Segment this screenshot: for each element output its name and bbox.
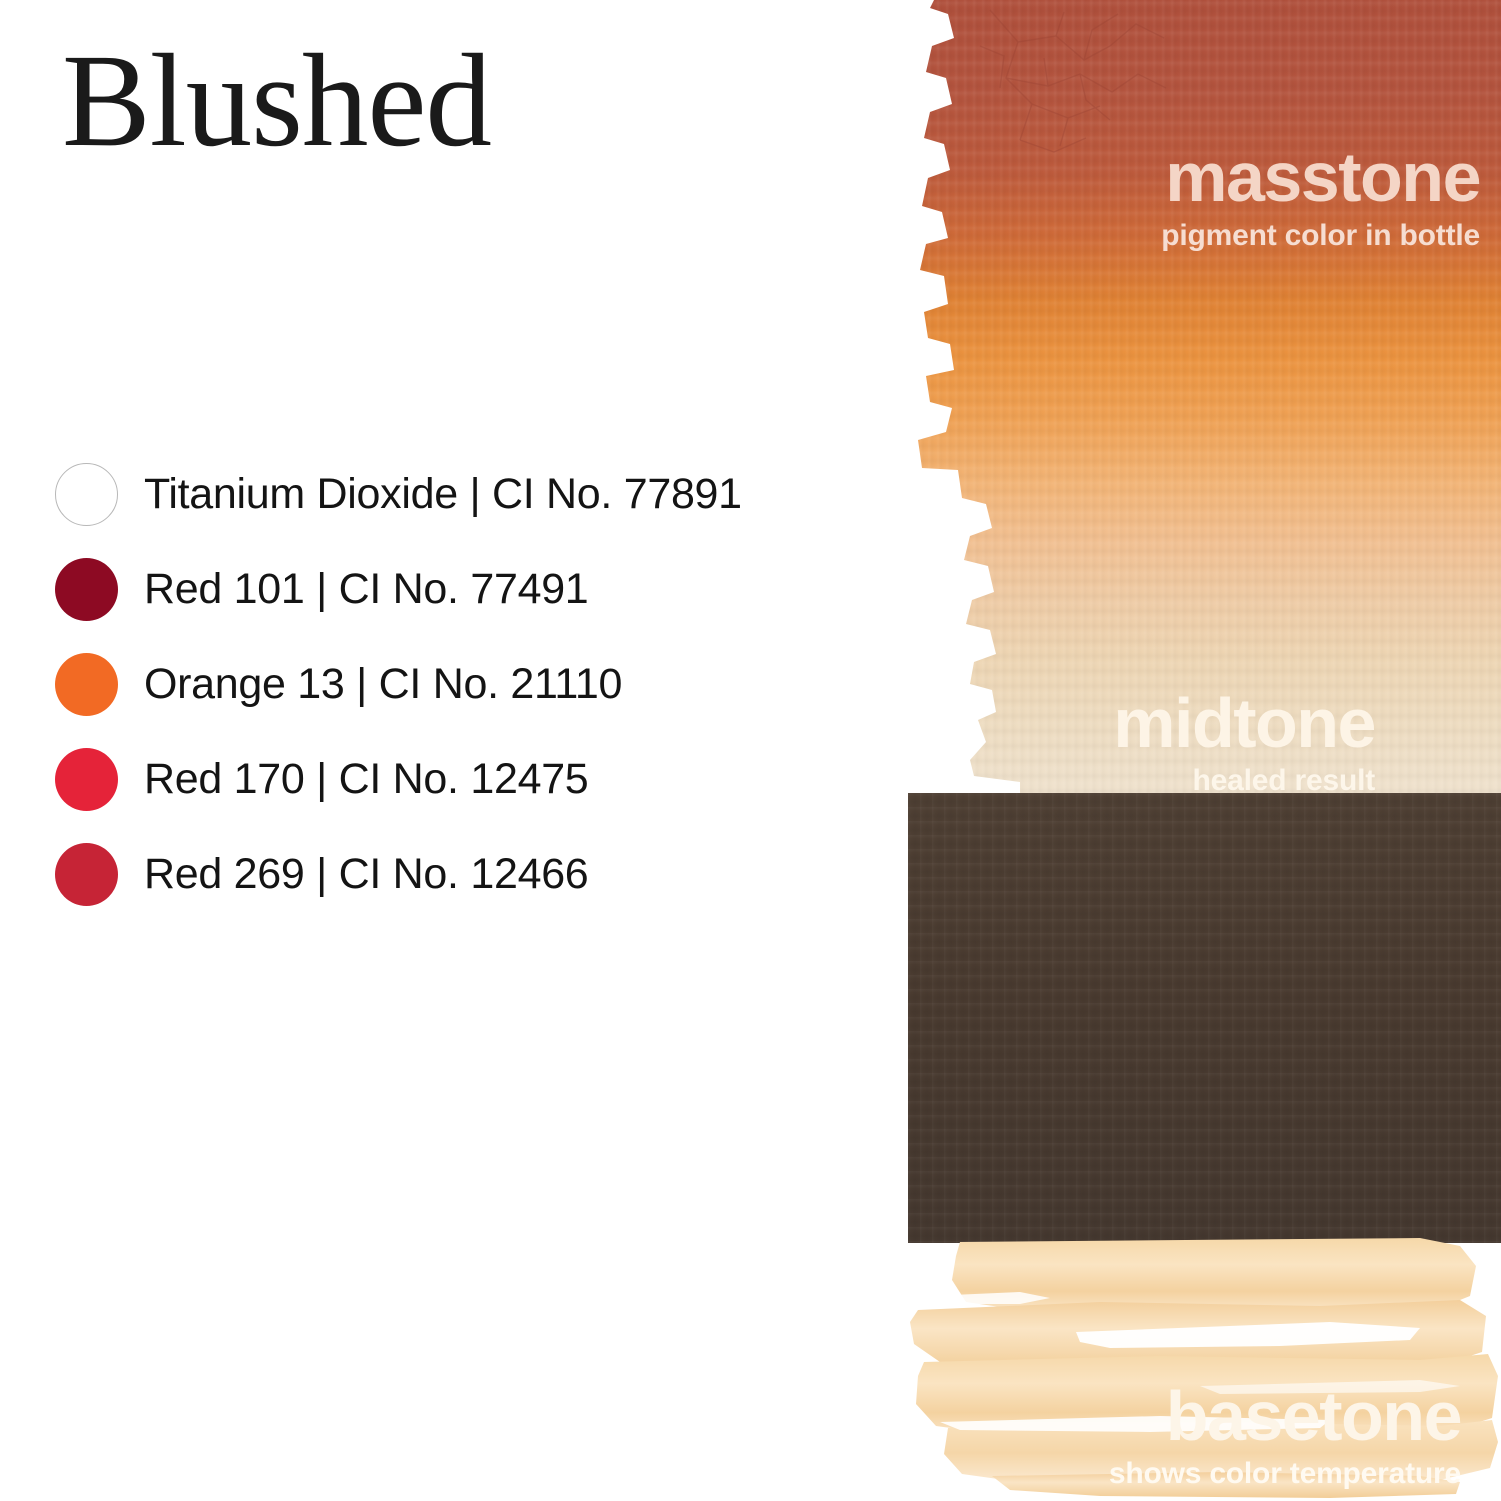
midtone-grain bbox=[908, 793, 1501, 1243]
pigment-label: Red 101 | CI No. 77491 bbox=[144, 565, 588, 614]
pigment-swatch-card: Blushed Titanium Dioxide | CI No. 77891R… bbox=[0, 0, 1501, 1501]
pigment-color-dot bbox=[55, 843, 118, 906]
pigment-row: Titanium Dioxide | CI No. 77891 bbox=[55, 447, 865, 542]
pigment-label: Orange 13 | CI No. 21110 bbox=[144, 660, 622, 709]
pigment-list: Titanium Dioxide | CI No. 77891Red 101 |… bbox=[55, 447, 865, 922]
pigment-row: Red 101 | CI No. 77491 bbox=[55, 542, 865, 637]
pigment-label: Red 170 | CI No. 12475 bbox=[144, 755, 588, 804]
pigment-color-dot bbox=[55, 748, 118, 811]
page-title: Blushed bbox=[62, 34, 491, 167]
swatch-column: masstone pigment color in bottle midtone… bbox=[900, 0, 1501, 1501]
pigment-color-dot bbox=[55, 463, 118, 526]
info-panel: Blushed Titanium Dioxide | CI No. 77891R… bbox=[0, 0, 900, 1501]
pigment-color-dot bbox=[55, 558, 118, 621]
pigment-row: Red 269 | CI No. 12466 bbox=[55, 827, 865, 922]
pigment-row: Red 170 | CI No. 12475 bbox=[55, 732, 865, 827]
midtone-swatch-block bbox=[908, 793, 1501, 1243]
pigment-label: Titanium Dioxide | CI No. 77891 bbox=[144, 470, 742, 519]
pigment-color-dot bbox=[55, 653, 118, 716]
basetone-brushstrokes bbox=[900, 1236, 1501, 1501]
basetone-swatch-area bbox=[900, 1236, 1501, 1501]
pigment-label: Red 269 | CI No. 12466 bbox=[144, 850, 588, 899]
wash-left-edge-mask bbox=[900, 0, 1020, 800]
pigment-row: Orange 13 | CI No. 21110 bbox=[55, 637, 865, 732]
